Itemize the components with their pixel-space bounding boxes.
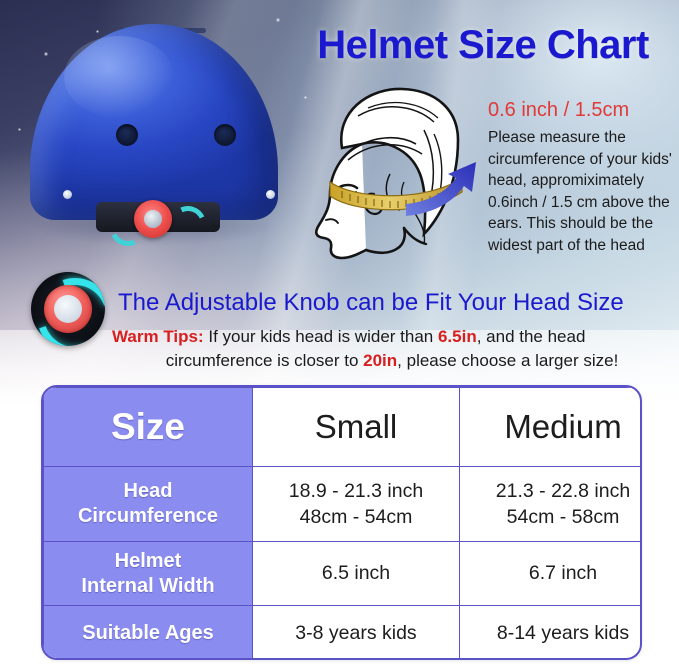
warm-tips: Warm Tips: If your kids head is wider th… <box>112 325 672 373</box>
measurement-description-text: Please measure the circumference of your… <box>488 129 672 254</box>
adjustable-knob-headline: The Adjustable Knob can be Fit Your Head… <box>118 288 674 318</box>
helmet-adjustable-knob <box>134 200 172 238</box>
head-measurement-diagram <box>286 78 492 268</box>
helmet-vent-hole <box>116 124 138 146</box>
warm-tips-line2-a: circumference is closer to <box>166 351 363 370</box>
helmet-strap-rivet <box>266 190 275 199</box>
table-row-head-circumference: Head Circumference 18.9 - 21.3 inch 48cm… <box>44 467 643 542</box>
cell-medium-head-circumference: 21.3 - 22.8 inch 54cm - 58cm <box>460 467 643 542</box>
cell-medium-suitable-ages: 8-14 years kids <box>460 606 643 661</box>
helmet-product-image <box>18 24 290 256</box>
cell-small-helmet-internal-width: 6.5 inch <box>253 542 460 606</box>
head-profile-illustration <box>286 78 492 268</box>
row-label-head-circumference: Head Circumference <box>44 467 253 542</box>
warm-tips-label: Warm Tips: <box>112 327 204 346</box>
row-label-line-1: Helmet <box>115 550 182 572</box>
helmet-shell <box>30 24 278 220</box>
helmet-vent-hole <box>214 124 236 146</box>
cell-small-head-circumference: 18.9 - 21.3 inch 48cm - 54cm <box>253 467 460 542</box>
cell-line-1: 21.3 - 22.8 inch <box>496 480 630 502</box>
row-label-line-2: Internal Width <box>81 575 214 597</box>
size-table-grid: Size Small Medium Head Circumference 18.… <box>43 387 642 660</box>
warm-tips-line2: circumference is closer to 20in, please … <box>112 349 672 373</box>
page-title: Helmet Size Chart <box>296 19 670 71</box>
row-label-suitable-ages: Suitable Ages <box>44 606 253 661</box>
row-label-line-2: Circumference <box>78 505 218 527</box>
warm-tips-line1-a: If your kids head is wider than <box>204 327 438 346</box>
size-table: Size Small Medium Head Circumference 18.… <box>41 385 642 660</box>
cell-line-1: 18.9 - 21.3 inch <box>289 480 423 502</box>
table-header-medium: Medium <box>460 388 643 467</box>
warm-tips-line1-b: , and the head <box>477 327 586 346</box>
row-label-helmet-internal-width: Helmet Internal Width <box>44 542 253 606</box>
table-row-suitable-ages: Suitable Ages 3-8 years kids 8-14 years … <box>44 606 643 661</box>
helmet-size-chart-poster: Helmet Size Chart <box>0 0 679 670</box>
cell-line-2: 54cm - 58cm <box>507 506 620 528</box>
row-label-line-1: Head <box>124 480 173 502</box>
cell-small-suitable-ages: 3-8 years kids <box>253 606 460 661</box>
cell-medium-helmet-internal-width: 6.7 inch <box>460 542 643 606</box>
warm-tips-width-value: 6.5in <box>438 327 477 346</box>
table-header-small: Small <box>253 388 460 467</box>
sparkle-icon <box>276 18 280 22</box>
cell-line-2: 48cm - 54cm <box>300 506 413 528</box>
warm-tips-circumference-value: 20in <box>363 351 397 370</box>
helmet-gloss-highlight <box>64 36 174 118</box>
table-row-helmet-internal-width: Helmet Internal Width 6.5 inch 6.7 inch <box>44 542 643 606</box>
knob-center-cap <box>54 295 82 323</box>
measurement-description: Please measure the circumference of your… <box>488 127 674 256</box>
table-header-size: Size <box>44 388 253 467</box>
helmet-strap-rivet <box>63 190 72 199</box>
warm-tips-line2-b: , please choose a larger size! <box>397 351 618 370</box>
table-header-row: Size Small Medium <box>44 388 643 467</box>
adjustable-knob-icon <box>31 272 105 346</box>
measurement-callout: 0.6 inch / 1.5cm <box>488 98 678 122</box>
